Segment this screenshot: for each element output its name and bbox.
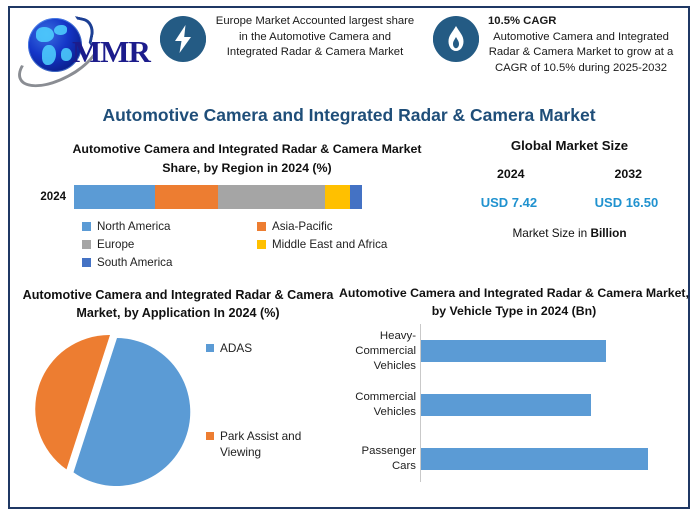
legend-swatch-icon [257, 222, 266, 231]
brand-logo[interactable]: MMR [10, 12, 158, 82]
stat-europe-share-text: Europe Market Accounted largest share in… [216, 15, 414, 58]
vehicle-type-bar-heavy-commercial[interactable] [421, 340, 606, 362]
legend-label: Middle East and Africa [272, 236, 387, 253]
market-size-year-2032-label: 2032 [614, 167, 642, 181]
vehicle-type-row: Heavy-Commercial Vehicles [336, 326, 692, 376]
legend-label: Park Assist and Viewing [220, 428, 334, 460]
legend-swatch-icon [206, 432, 214, 440]
vehicle-type-chart-title: Automotive Camera and Integrated Radar &… [336, 284, 692, 320]
lightning-bolt-icon [160, 16, 206, 62]
vehicle-type-row: Commercial Vehicles [336, 380, 692, 430]
region-share-chart: Automotive Camera and Integrated Radar &… [20, 140, 440, 272]
brand-logo-text: MMR [72, 34, 150, 70]
legend-item[interactable]: Middle East and Africa [257, 236, 432, 253]
global-market-size-footnote: Market Size in Billion [452, 226, 687, 240]
application-share-chart: Automotive Camera and Integrated Radar &… [18, 286, 338, 488]
legend-item[interactable]: ADAS [206, 340, 334, 356]
legend-item[interactable]: Park Assist and Viewing [206, 428, 334, 460]
legend-swatch-icon [82, 240, 91, 249]
region-segment-north-america [74, 185, 155, 209]
region-segment-south-america [350, 185, 362, 209]
stat-cagr: 10.5% CAGR Automotive Camera and Integra… [433, 8, 674, 76]
global-market-size-years: 2024 2032 [452, 167, 687, 181]
market-size-unit-prefix: Market Size in [512, 226, 590, 240]
legend-label: South America [97, 254, 172, 271]
region-share-bar-row: 2024 [20, 185, 440, 209]
vehicle-type-label: Commercial Vehicles [336, 390, 421, 420]
market-size-unit: Billion [590, 226, 626, 240]
infographic-root: MMR Europe Market Accounted largest shar… [0, 0, 698, 517]
pie-graphic [24, 326, 204, 486]
legend-item[interactable]: Asia-Pacific [257, 218, 432, 235]
vehicle-type-row: Passenger Cars [336, 434, 692, 484]
header: MMR Europe Market Accounted largest shar… [10, 8, 688, 104]
region-segment-asia-pacific [155, 185, 218, 209]
legend-item[interactable]: North America [82, 218, 257, 235]
global-market-size-title: Global Market Size [452, 138, 687, 153]
region-share-legend: North America Asia-Pacific Europe Middle… [82, 218, 432, 272]
legend-label: ADAS [220, 340, 252, 356]
global-market-size-values: USD 7.42 USD 16.50 [452, 195, 687, 210]
vehicle-type-chart: Automotive Camera and Integrated Radar &… [336, 284, 692, 484]
application-share-plot: ADAS Park Assist and Viewing [18, 326, 338, 488]
legend-item[interactable]: South America [82, 254, 257, 271]
legend-label: Europe [97, 236, 134, 253]
page-title: Automotive Camera and Integrated Radar &… [0, 105, 698, 126]
global-market-size-panel: Global Market Size 2024 2032 USD 7.42 US… [452, 138, 687, 240]
vehicle-type-bar-passenger-cars[interactable] [421, 448, 648, 470]
legend-swatch-icon [257, 240, 266, 249]
vehicle-type-label: Passenger Cars [336, 444, 421, 474]
region-share-stacked-bar [74, 185, 362, 209]
market-size-value-2032: USD 16.50 [595, 195, 659, 210]
flame-icon [433, 16, 479, 62]
vehicle-type-bar-commercial[interactable] [421, 394, 591, 416]
market-size-year-2024-label: 2024 [497, 167, 525, 181]
region-segment-middle-east-africa [325, 185, 351, 209]
vehicle-type-plot: Heavy-Commercial Vehicles Commercial Veh… [336, 324, 692, 484]
application-share-chart-title: Automotive Camera and Integrated Radar &… [18, 286, 338, 322]
legend-swatch-icon [206, 344, 214, 352]
market-size-value-2024: USD 7.42 [481, 195, 537, 210]
region-segment-europe [218, 185, 325, 209]
vehicle-type-label: Heavy-Commercial Vehicles [336, 329, 421, 374]
legend-swatch-icon [82, 258, 91, 267]
application-share-legend: ADAS Park Assist and Viewing [206, 340, 334, 460]
legend-label: Asia-Pacific [272, 218, 333, 235]
legend-swatch-icon [82, 222, 91, 231]
stat-cagr-headline: 10.5% CAGR [488, 14, 674, 30]
region-share-category-label: 2024 [20, 191, 74, 203]
stat-cagr-text: Automotive Camera and Integrated Radar &… [489, 31, 674, 74]
legend-label: North America [97, 218, 170, 235]
stat-europe-share: Europe Market Accounted largest share in… [160, 8, 415, 62]
legend-item[interactable]: Europe [82, 236, 257, 253]
region-share-chart-title: Automotive Camera and Integrated Radar &… [62, 140, 432, 178]
